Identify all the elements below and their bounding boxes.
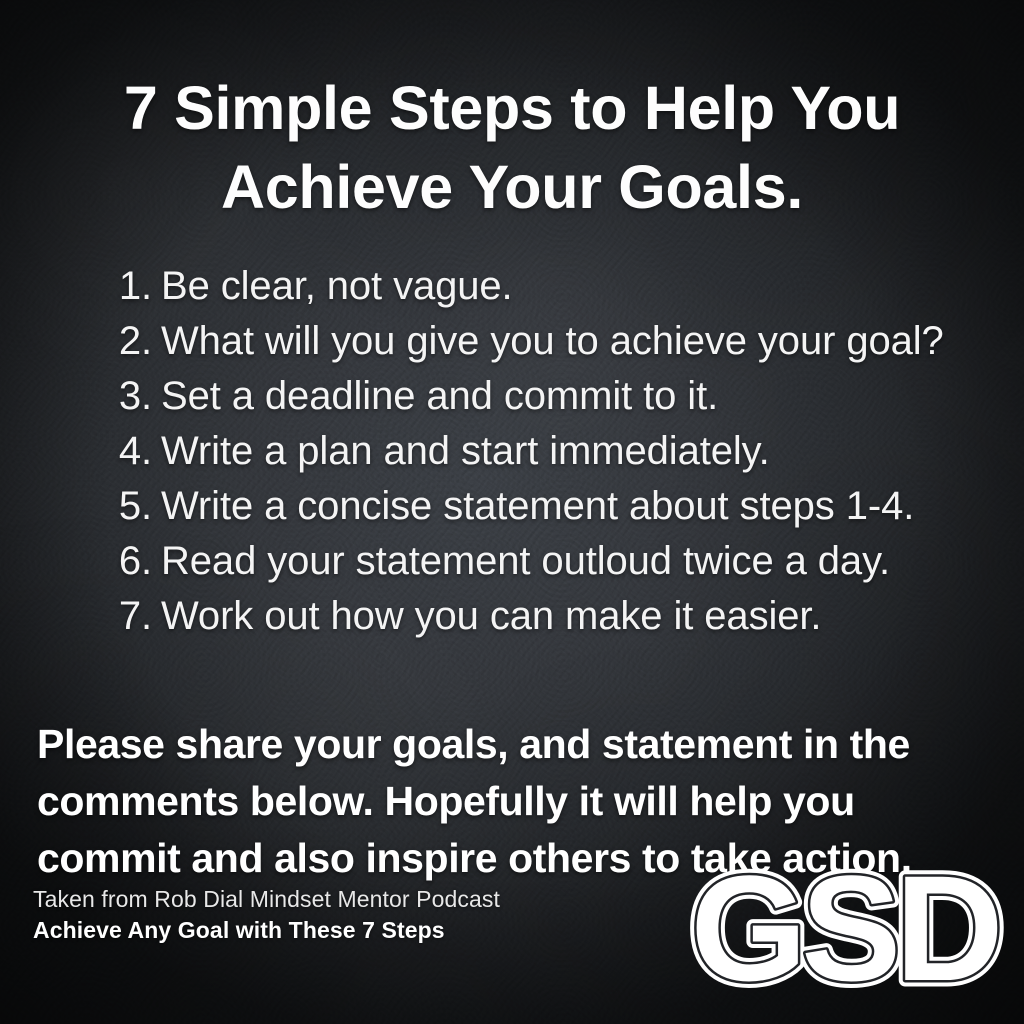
attribution-block: Taken from Rob Dial Mindset Mentor Podca… xyxy=(33,884,673,946)
step-text-5: Write a concise statement about steps 1-… xyxy=(161,479,914,534)
step-number-7: 7. xyxy=(106,589,152,644)
title-line-2: Achieve Your Goals. xyxy=(50,148,974,227)
call-to-action-text: Please share your goals, and statement i… xyxy=(37,716,976,887)
step-item-4: 4. Write a plan and start immediately. xyxy=(106,424,984,479)
step-text-3: Set a deadline and commit to it. xyxy=(161,369,718,424)
gsd-logo: GSD xyxy=(676,868,1012,1004)
step-item-7: 7. Work out how you can make it easier. xyxy=(106,589,984,644)
step-item-3: 3. Set a deadline and commit to it. xyxy=(106,369,984,424)
gsd-logo-inner xyxy=(690,868,998,1004)
step-number-3: 3. xyxy=(106,369,152,424)
step-item-5: 5. Write a concise statement about steps… xyxy=(106,479,984,534)
step-text-6: Read your statement outloud twice a day. xyxy=(161,534,890,589)
poster-canvas: 7 Simple Steps to Help You Achieve Your … xyxy=(0,0,1024,1024)
step-number-1: 1. xyxy=(106,259,152,314)
title-line-1: 7 Simple Steps to Help You xyxy=(50,69,974,148)
poster-title: 7 Simple Steps to Help You Achieve Your … xyxy=(50,69,974,227)
attribution-source: Taken from Rob Dial Mindset Mentor Podca… xyxy=(33,884,673,915)
poster-content: 7 Simple Steps to Help You Achieve Your … xyxy=(0,0,1024,1024)
step-item-1: 1. Be clear, not vague. xyxy=(106,259,984,314)
step-number-4: 4. xyxy=(106,424,152,479)
step-number-2: 2. xyxy=(106,314,152,369)
step-number-6: 6. xyxy=(106,534,152,589)
step-item-2: 2. What will you give you to achieve you… xyxy=(106,314,984,369)
step-text-1: Be clear, not vague. xyxy=(161,259,513,314)
attribution-episode: Achieve Any Goal with These 7 Steps xyxy=(33,915,673,946)
step-text-2: What will you give you to achieve your g… xyxy=(161,314,944,369)
step-item-6: 6. Read your statement outloud twice a d… xyxy=(106,534,984,589)
step-number-5: 5. xyxy=(106,479,152,534)
step-text-4: Write a plan and start immediately. xyxy=(161,424,770,479)
steps-list: 1. Be clear, not vague. 2. What will you… xyxy=(66,259,984,644)
step-text-7: Work out how you can make it easier. xyxy=(161,589,821,644)
